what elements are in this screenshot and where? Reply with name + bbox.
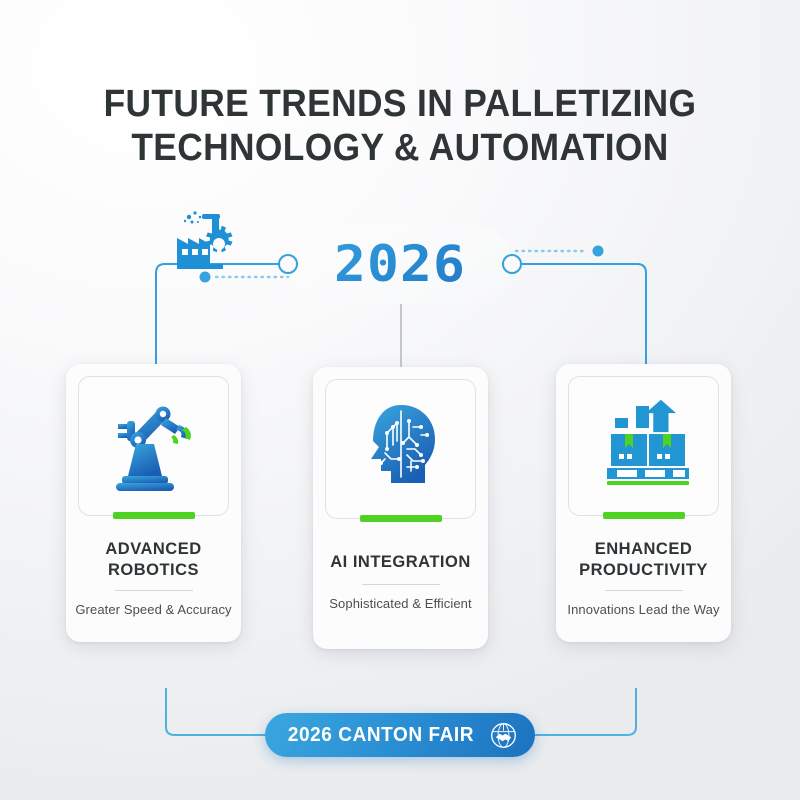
year-badge-knob-left bbox=[278, 254, 298, 274]
card-1-title-line-1: ADVANCED bbox=[105, 540, 201, 558]
card-2-divider bbox=[362, 584, 440, 585]
card-1-divider bbox=[115, 590, 193, 591]
card-1-accent-bar bbox=[113, 512, 195, 519]
footer-connector-right bbox=[528, 688, 636, 735]
year-badge-knob-right bbox=[502, 254, 522, 274]
card-2-title: AI INTEGRATION bbox=[313, 552, 488, 573]
card-1-subtitle: Greater Speed & Accuracy bbox=[66, 602, 241, 617]
card-1-title: ADVANCED ROBOTICS bbox=[66, 539, 241, 581]
card-3-title-line-2: PRODUCTIVITY bbox=[579, 561, 708, 579]
accent-dot-right bbox=[593, 246, 604, 257]
card-2-icon-box bbox=[325, 379, 476, 519]
card-enhanced-productivity[interactable]: ENHANCED PRODUCTIVITY Innovations Lead t… bbox=[556, 364, 731, 642]
connector-right bbox=[522, 264, 646, 364]
card-3-subtitle: Innovations Lead the Way bbox=[556, 602, 731, 617]
footer-badge-label: 2026 CANTON FAIR bbox=[288, 724, 474, 747]
card-ai-integration[interactable]: AI INTEGRATION Sophisticated & Efficient bbox=[313, 367, 488, 649]
infographic-root: FUTURE TRENDS IN PALLETIZING TECHNOLOGY … bbox=[0, 0, 800, 800]
handshake-globe-icon bbox=[490, 722, 517, 749]
factory-gear-icon bbox=[175, 208, 247, 270]
robot-arm-icon bbox=[100, 394, 208, 498]
card-3-icon-box bbox=[568, 376, 719, 516]
card-3-divider bbox=[605, 590, 683, 591]
accent-dot-left bbox=[200, 272, 211, 283]
connector-left bbox=[156, 264, 278, 364]
pallet-boxes-growth-icon bbox=[589, 396, 699, 496]
card-1-title-line-2: ROBOTICS bbox=[108, 561, 199, 579]
ai-circuit-head-icon bbox=[351, 397, 451, 501]
footer-badge[interactable]: 2026 CANTON FAIR bbox=[265, 713, 535, 757]
year-badge-label: 2026 bbox=[281, 224, 518, 304]
card-2-accent-bar bbox=[360, 515, 442, 522]
footer-connector-left bbox=[166, 688, 272, 735]
card-3-title: ENHANCED PRODUCTIVITY bbox=[556, 539, 731, 581]
card-3-title-line-1: ENHANCED bbox=[595, 540, 693, 558]
card-2-title-line-1: AI INTEGRATION bbox=[330, 553, 471, 571]
card-advanced-robotics[interactable]: ADVANCED ROBOTICS Greater Speed & Accura… bbox=[66, 364, 241, 642]
card-3-accent-bar bbox=[603, 512, 685, 519]
year-badge: 2026 bbox=[288, 224, 512, 304]
card-2-subtitle: Sophisticated & Efficient bbox=[313, 596, 488, 611]
card-1-icon-box bbox=[78, 376, 229, 516]
